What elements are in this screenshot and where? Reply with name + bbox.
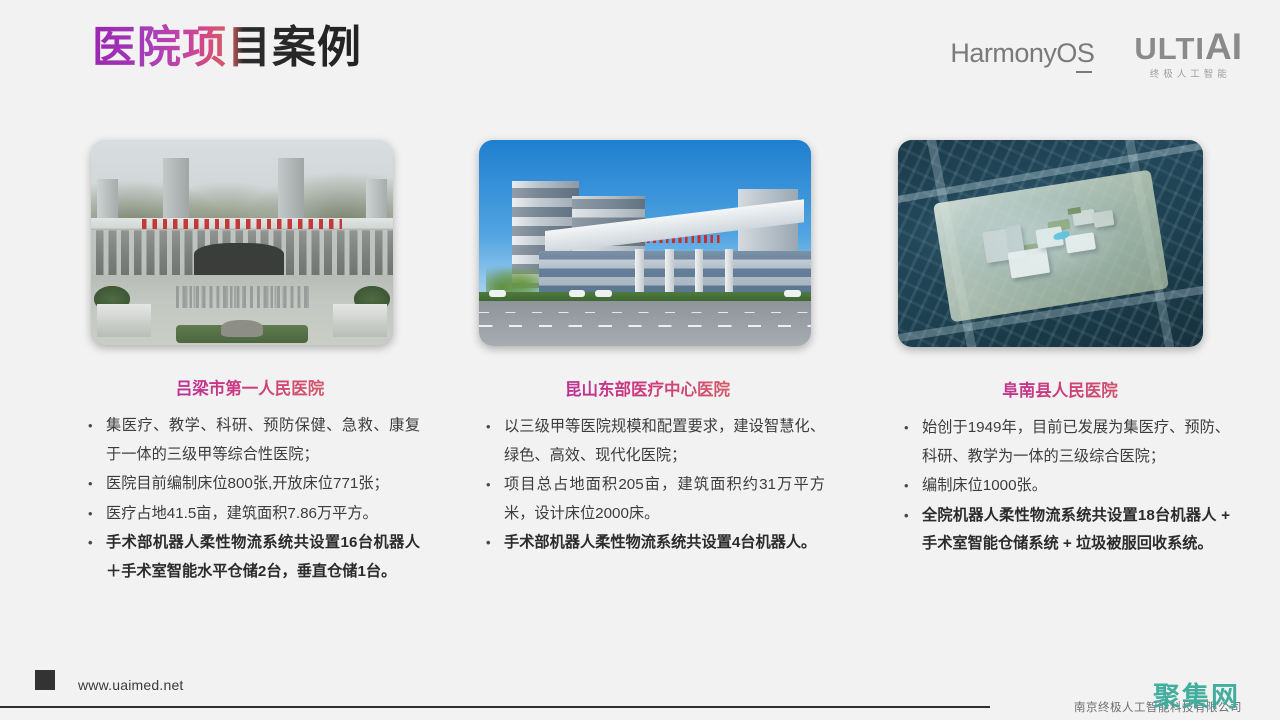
lvliang-first-peoples-hospital-photo: [91, 140, 393, 345]
harmonyos-logo: HarmonyOS: [950, 38, 1094, 69]
ulti-ai-logo-subtitle: 终极人工智能: [1146, 70, 1231, 80]
watermark-text: 聚集网: [1153, 675, 1240, 714]
photo-illustration: [479, 140, 811, 346]
hospital-bullets-1: 集医疗、教学、科研、预防保健、急救、康复于一体的三级甲等综合性医院； 医院目前编…: [80, 412, 420, 586]
kunshan-east-medical-center-hospital-photo: [479, 140, 811, 346]
list-item: 全院机器人柔性物流系统共设置18台机器人 + 手术室智能仓储系统 + 垃圾被服回…: [896, 502, 1230, 559]
hospital-name-2: 昆山东部医疗中心医院: [470, 380, 825, 401]
list-item: 集医疗、教学、科研、预防保健、急救、康复于一体的三级甲等综合性医院；: [80, 412, 420, 469]
list-item: 项目总占地面积205亩，建筑面积约31万平方米，设计床位2000床。: [478, 471, 825, 528]
list-item: 医院目前编制床位800张,开放床位771张；: [80, 470, 420, 499]
footer-website-url[interactable]: www.uaimed.net: [78, 677, 184, 693]
photo-illustration: [898, 140, 1203, 347]
ulti-ai-logo: ULTIAI 终极人工智能: [1134, 28, 1242, 80]
hospital-name-1: 吕梁市第一人民医院: [80, 379, 420, 400]
hospital-card-2: 昆山东部医疗中心医院 以三级甲等医院规模和配置要求，建设智慧化、绿色、高效、现代…: [470, 140, 825, 559]
hospital-name-3: 阜南县人民医院: [890, 381, 1230, 402]
list-item: 手术部机器人柔性物流系统共设置4台机器人。: [478, 529, 825, 558]
footer-square-mark: [35, 670, 55, 690]
hospital-card-3: 阜南县人民医院 始创于1949年，目前已发展为集医疗、预防、科研、教学为一体的三…: [890, 140, 1230, 560]
page-title: 医院项目案例: [92, 22, 362, 75]
hospital-bullets-2: 以三级甲等医院规模和配置要求，建设智慧化、绿色、高效、现代化医院； 项目总占地面…: [470, 413, 825, 558]
list-item: 以三级甲等医院规模和配置要求，建设智慧化、绿色、高效、现代化医院；: [478, 413, 825, 470]
ulti-ai-logo-wordmark: ULTIAI: [1134, 28, 1242, 65]
list-item: 医疗占地41.5亩，建筑面积7.86万平方。: [80, 500, 420, 529]
ulti-text: ULTI: [1134, 31, 1205, 66]
footer-divider: [0, 706, 990, 708]
ai-text: AI: [1205, 26, 1242, 67]
harmonyos-logo-text: HarmonyOS: [950, 38, 1094, 68]
hospital-card-1: 吕梁市第一人民医院 集医疗、教学、科研、预防保健、急救、康复于一体的三级甲等综合…: [80, 140, 420, 587]
list-item: 始创于1949年，目前已发展为集医疗、预防、科研、教学为一体的三级综合医院；: [896, 414, 1230, 471]
harmonyos-underline-mark: [1076, 71, 1092, 74]
slide-footer: www.uaimed.net 南京终极人工智能科技有限公司 聚集网: [0, 650, 1280, 720]
hospital-bullets-3: 始创于1949年，目前已发展为集医疗、预防、科研、教学为一体的三级综合医院； 编…: [890, 414, 1230, 559]
logo-group: HarmonyOS ULTIAI 终极人工智能: [950, 28, 1242, 80]
funan-county-peoples-hospital-photo: [898, 140, 1203, 347]
list-item: 手术部机器人柔性物流系统共设置16台机器人＋手术室智能水平仓储2台，垂直仓储1台…: [80, 529, 420, 586]
photo-illustration: [91, 140, 393, 345]
slide-header: 医院项目案例 HarmonyOS ULTIAI 终极人工智能: [0, 0, 1280, 110]
list-item: 编制床位1000张。: [896, 472, 1230, 501]
